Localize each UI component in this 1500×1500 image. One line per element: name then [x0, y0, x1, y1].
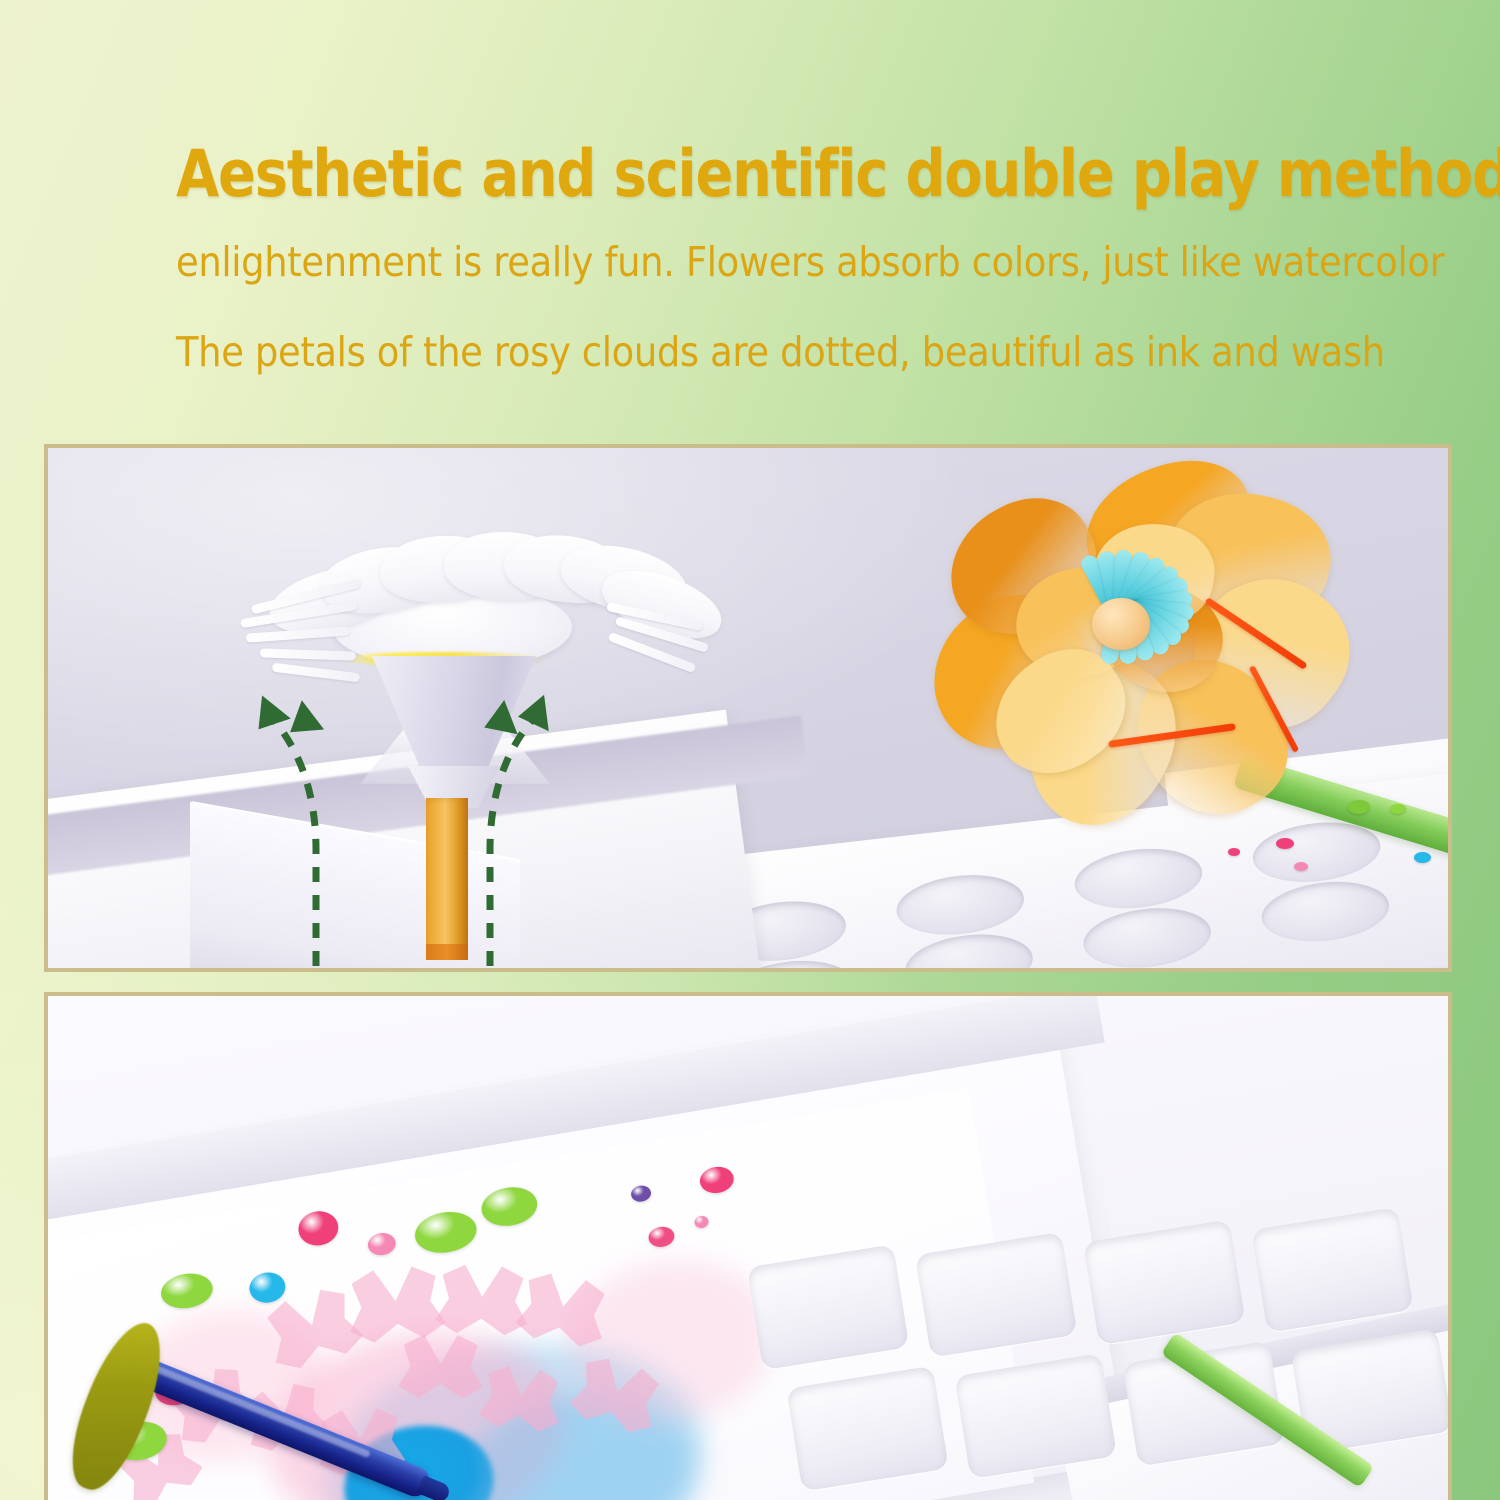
paint-droplet — [296, 1208, 341, 1248]
palette-well — [902, 928, 1036, 968]
product-photo-panel-1 — [44, 444, 1452, 972]
palette-well — [1080, 902, 1214, 968]
arrow-left-head — [247, 689, 291, 731]
paint-droplet — [1294, 862, 1308, 871]
paint-well — [747, 1244, 909, 1370]
paint-droplet — [1276, 838, 1294, 849]
paint-droplet — [1390, 804, 1406, 814]
paint-droplet — [479, 1183, 541, 1230]
paint-well — [1251, 1207, 1413, 1333]
page-subline-1: enlightenment is really fun. Flowers abs… — [176, 240, 1364, 284]
palette-well — [1259, 876, 1393, 948]
paint-droplet — [247, 1270, 287, 1306]
paint-droplet — [158, 1270, 215, 1312]
arrow-right-head — [517, 689, 561, 731]
paint-droplet — [698, 1164, 736, 1195]
arrow-right-dashed-path — [490, 718, 534, 966]
product-photo-panel-2 — [44, 992, 1452, 1500]
paint-droplet — [412, 1208, 480, 1258]
arrow-left-dashed-path — [272, 718, 316, 966]
flower-petal-sliver — [260, 648, 356, 660]
orange-paper-flower — [896, 460, 1366, 880]
paint-well — [915, 1232, 1077, 1358]
paint-droplet — [1228, 848, 1240, 856]
paint-droplet — [647, 1225, 676, 1249]
paint-well — [1083, 1219, 1245, 1345]
paint-tray-and-purple-flower-photo — [48, 996, 1448, 1500]
arrow-right-head-2 — [484, 698, 522, 734]
paint-droplet — [1348, 800, 1370, 814]
paint-droplet — [366, 1231, 397, 1257]
paint-droplet — [694, 1215, 710, 1229]
flow-arrows-group — [238, 678, 578, 968]
paint-well — [954, 1353, 1116, 1479]
flower-center — [1092, 598, 1150, 650]
white-flower-absorption-photo — [48, 448, 1448, 968]
paint-droplet — [630, 1184, 652, 1203]
butterfly-petal-stain — [434, 1257, 529, 1339]
promo-page: Aesthetic and scientific double play met… — [0, 0, 1500, 1500]
paint-well — [786, 1366, 948, 1492]
page-subline-2: The petals of the rosy clouds are dotted… — [176, 330, 1364, 374]
page-headline: Aesthetic and scientific double play met… — [176, 142, 1285, 208]
arrow-left-head-2 — [286, 698, 324, 734]
paint-droplet — [1414, 852, 1431, 863]
